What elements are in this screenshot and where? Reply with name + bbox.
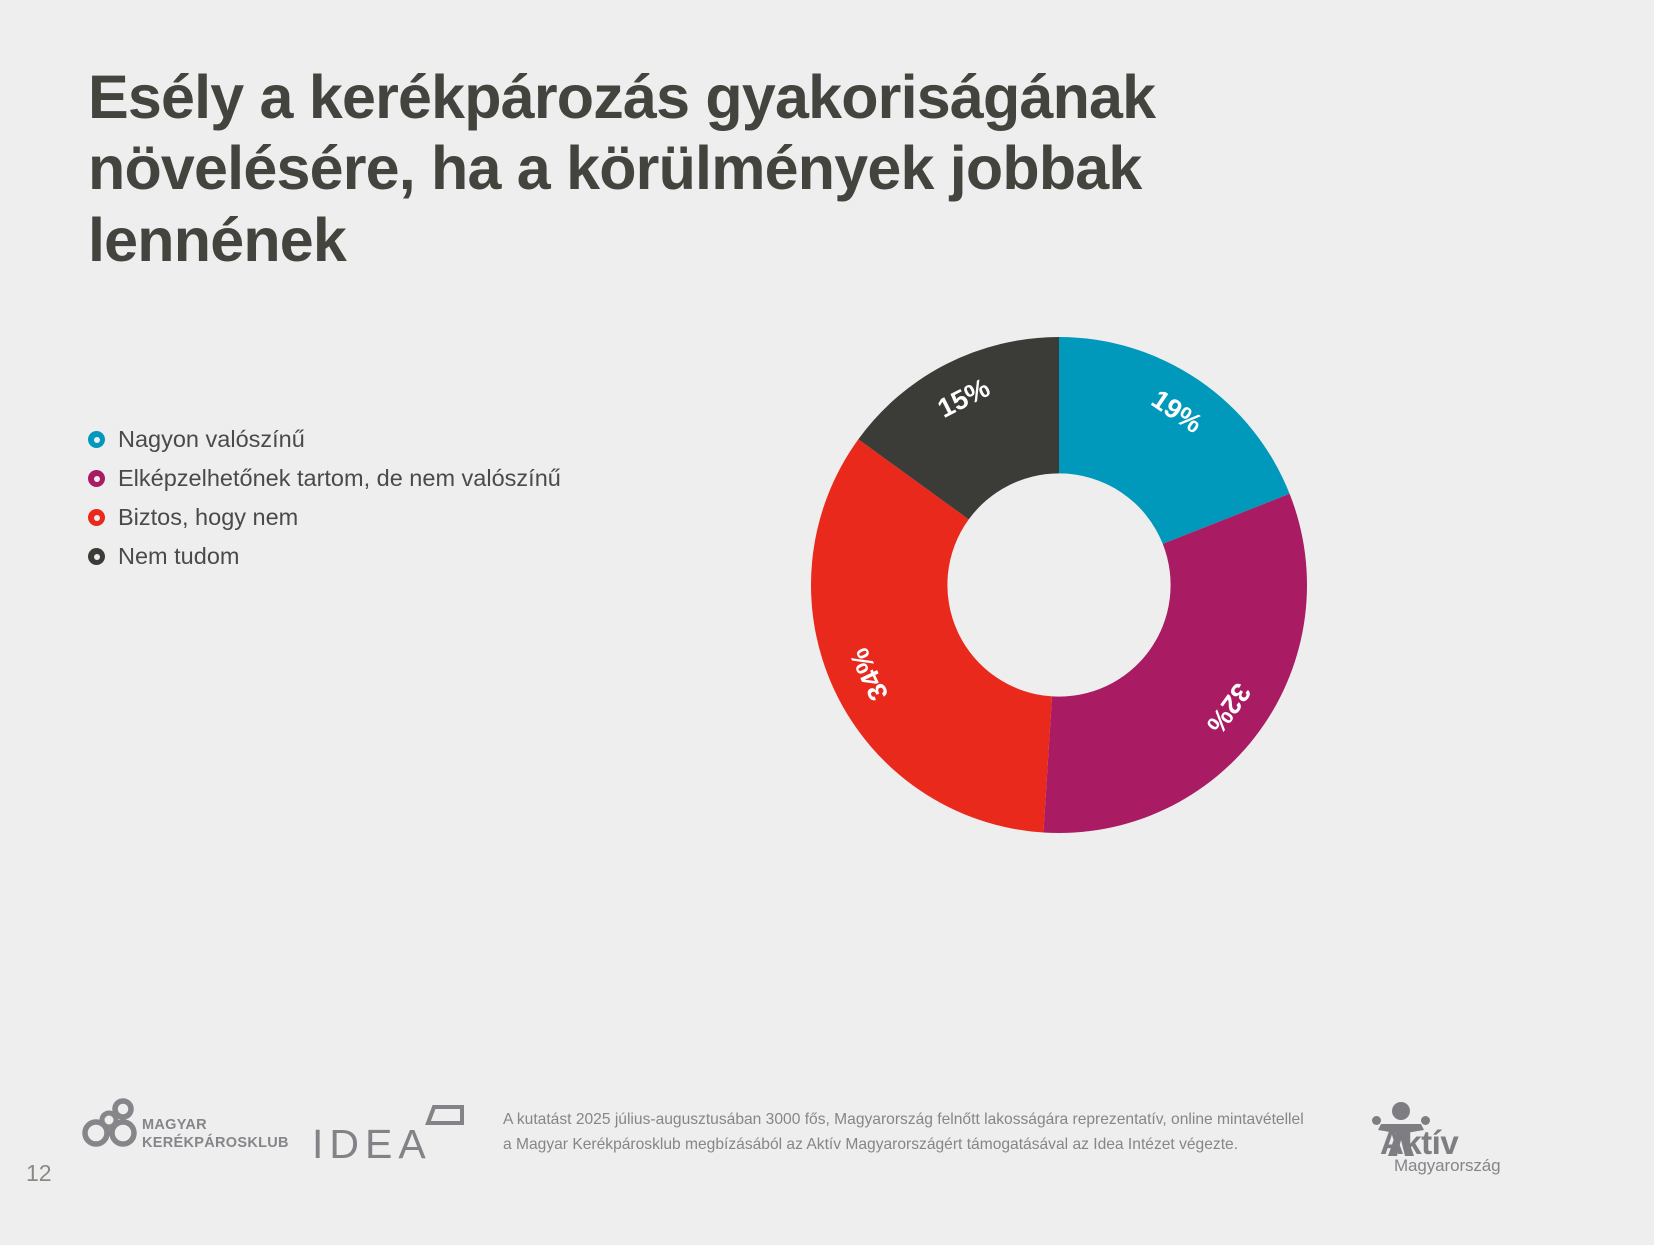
footer-note-line-2: a Magyar Kerékpárosklub megbízásából az …	[503, 1132, 1343, 1157]
magyar-kerekparosklub-logo: MAGYAR KERÉKPÁROSKLUB	[82, 1098, 282, 1170]
idea-wordmark: IDEA	[312, 1121, 432, 1168]
donut-chart-svg: 19%32%34%15%	[779, 305, 1339, 865]
donut-slice[interactable]	[811, 439, 1052, 832]
page-title: Esély a kerékpározás gyakoriságának növe…	[88, 62, 1348, 276]
donut-chart: 19%32%34%15%	[779, 305, 1339, 865]
donut-slice-group	[811, 337, 1307, 833]
footer-note-line-1: A kutatást 2025 július-augusztusában 300…	[503, 1107, 1343, 1132]
legend-item-label: Nagyon valószínű	[118, 426, 305, 453]
slide-root: Esély a kerékpározás gyakoriságának növe…	[0, 0, 1654, 1245]
legend-item-elkepzelhetonek-tartom[interactable]: Elképzelhetőnek tartom, de nem valószínű	[88, 459, 708, 498]
chart-legend: Nagyon valószínű Elképzelhetőnek tartom,…	[88, 420, 708, 576]
idea-quote-mark-icon	[424, 1105, 464, 1131]
kerekparosklub-circles-icon	[82, 1098, 138, 1148]
footer-note: A kutatást 2025 július-augusztusában 300…	[503, 1107, 1343, 1158]
footer-divider	[0, 1088, 1654, 1089]
donut-marker-icon	[88, 509, 105, 526]
donut-marker-icon	[88, 548, 105, 565]
legend-item-label: Nem tudom	[118, 543, 239, 570]
legend-item-label: Elképzelhetőnek tartom, de nem valószínű	[118, 465, 561, 492]
legend-item-label: Biztos, hogy nem	[118, 504, 298, 531]
idea-logo: IDEA	[312, 1105, 462, 1167]
kerekparosklub-line-2: KERÉKPÁROSKLUB	[142, 1135, 289, 1153]
donut-slice[interactable]	[1043, 494, 1307, 833]
donut-marker-icon	[88, 470, 105, 487]
aktiv-magyarorszag-logo: Aktív Magyarország	[1366, 1100, 1556, 1178]
page-number: 12	[26, 1160, 52, 1187]
legend-item-nem-tudom[interactable]: Nem tudom	[88, 537, 708, 576]
kerekparosklub-line-1: MAGYAR	[142, 1117, 289, 1135]
legend-item-nagyon-valoszinu[interactable]: Nagyon valószínű	[88, 420, 708, 459]
aktiv-sub-wordmark: Magyarország	[1394, 1156, 1501, 1176]
kerekparosklub-wordmark: MAGYAR KERÉKPÁROSKLUB	[142, 1117, 289, 1152]
donut-marker-icon	[88, 431, 105, 448]
legend-item-biztos-hogy-nem[interactable]: Biztos, hogy nem	[88, 498, 708, 537]
